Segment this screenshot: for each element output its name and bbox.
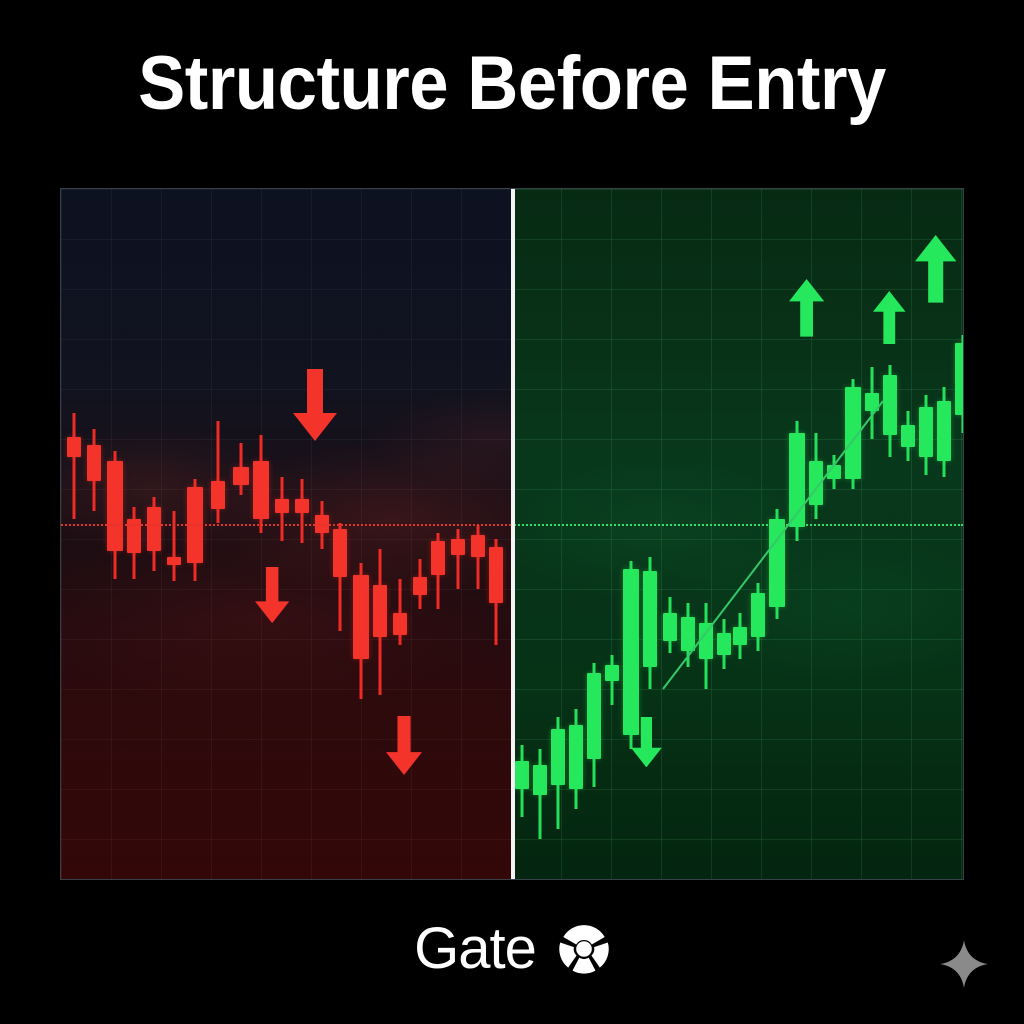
- candlestick: [107, 451, 123, 579]
- candlestick: [605, 655, 619, 705]
- candlestick: [699, 603, 713, 689]
- candle-wick: [73, 413, 76, 519]
- candlestick: [67, 413, 81, 519]
- up-arrow-icon: [873, 291, 906, 344]
- chart-container: [60, 188, 964, 880]
- candle-body: [643, 571, 657, 667]
- down-arrow-icon: [386, 716, 422, 775]
- candle-body: [295, 499, 309, 513]
- candlestick: [127, 507, 141, 579]
- candlestick: [865, 367, 879, 439]
- brand-footer: Gate: [0, 920, 1024, 978]
- candle-body: [919, 407, 933, 457]
- support-level-line-bearish: [61, 524, 511, 526]
- candle-body: [809, 461, 823, 505]
- panel-divider: [511, 189, 515, 879]
- candlestick: [451, 529, 465, 589]
- candle-body: [865, 393, 879, 411]
- candle-body: [211, 481, 225, 509]
- resistance-level-line-bullish: [511, 524, 963, 526]
- candlestick: [373, 549, 387, 695]
- candlestick: [167, 511, 181, 581]
- candle-wick: [173, 511, 176, 581]
- candle-body: [845, 387, 861, 479]
- candlestick: [147, 497, 161, 571]
- candle-body: [147, 507, 161, 551]
- candlestick: [827, 455, 841, 489]
- candlestick: [955, 335, 963, 433]
- candle-body: [663, 613, 677, 641]
- candle-body: [471, 535, 485, 557]
- down-arrow-icon: [255, 567, 289, 623]
- down-arrow-icon: [293, 369, 337, 441]
- candle-body: [393, 613, 407, 635]
- candle-body: [789, 433, 805, 527]
- candle-body: [769, 519, 785, 607]
- candlestick: [489, 539, 503, 645]
- candle-body: [67, 437, 81, 457]
- candle-body: [515, 761, 529, 789]
- candle-body: [353, 575, 369, 659]
- candle-body: [333, 529, 347, 577]
- candlestick: [211, 421, 225, 523]
- candlestick: [809, 433, 823, 519]
- candle-body: [233, 467, 249, 485]
- candle-body: [901, 425, 915, 447]
- candlestick: [431, 533, 445, 609]
- candle-body: [275, 499, 289, 513]
- candle-body: [489, 547, 503, 603]
- candlestick: [333, 523, 347, 631]
- candle-body: [827, 465, 841, 479]
- candle-body: [569, 725, 583, 789]
- candlestick: [233, 443, 249, 495]
- candle-body: [373, 585, 387, 637]
- candle-body: [883, 375, 897, 435]
- candlestick: [845, 379, 861, 489]
- candlestick: [901, 411, 915, 461]
- candle-body: [107, 461, 123, 551]
- candlestick: [515, 745, 529, 817]
- bullish-chart-panel[interactable]: [511, 189, 963, 879]
- candlestick: [733, 613, 747, 659]
- gate-wordmark: Gate: [414, 920, 536, 978]
- candle-body: [533, 765, 547, 795]
- candle-body: [87, 445, 101, 481]
- page-root: Structure Before Entry Gate: [0, 0, 1024, 1024]
- candlestick: [353, 563, 369, 699]
- candlestick: [919, 395, 933, 475]
- candlestick: [883, 365, 897, 457]
- candlestick: [413, 559, 427, 609]
- candlestick: [295, 479, 309, 543]
- candle-body: [623, 569, 639, 735]
- candle-body: [587, 673, 601, 759]
- candlestick: [87, 429, 101, 511]
- candlestick: [751, 583, 765, 651]
- candlestick: [681, 603, 695, 667]
- candle-body: [431, 541, 445, 575]
- candlestick: [587, 663, 601, 787]
- up-arrow-icon: [915, 235, 956, 303]
- candle-body: [699, 623, 713, 659]
- candle-body: [955, 343, 963, 415]
- candle-body: [937, 401, 951, 461]
- candle-body: [413, 577, 427, 595]
- candle-body: [253, 461, 269, 519]
- up-arrow-icon: [789, 279, 824, 337]
- candle-body: [605, 665, 619, 681]
- candlestick: [533, 749, 547, 839]
- sparkle-icon: [938, 938, 990, 990]
- candle-body: [733, 627, 747, 645]
- candle-wick: [457, 529, 460, 589]
- candlestick: [717, 619, 731, 669]
- gate-aperture-icon: [558, 923, 610, 975]
- candlestick: [275, 477, 289, 541]
- candlestick: [187, 479, 203, 581]
- down-arrow-icon: [631, 717, 662, 767]
- bearish-chart-panel[interactable]: [61, 189, 511, 879]
- candlestick: [643, 557, 657, 689]
- candlestick: [663, 597, 677, 653]
- candle-body: [681, 617, 695, 651]
- page-title: Structure Before Entry: [36, 44, 988, 124]
- candlestick: [471, 525, 485, 589]
- candle-body: [551, 729, 565, 785]
- candlestick: [393, 579, 407, 645]
- candlestick: [551, 717, 565, 829]
- candle-wick: [399, 579, 402, 645]
- candlestick: [569, 709, 583, 809]
- candle-body: [167, 557, 181, 565]
- candle-body: [717, 633, 731, 655]
- candlestick: [937, 387, 951, 477]
- candlestick: [253, 435, 269, 533]
- candle-body: [751, 593, 765, 637]
- candle-body: [451, 539, 465, 555]
